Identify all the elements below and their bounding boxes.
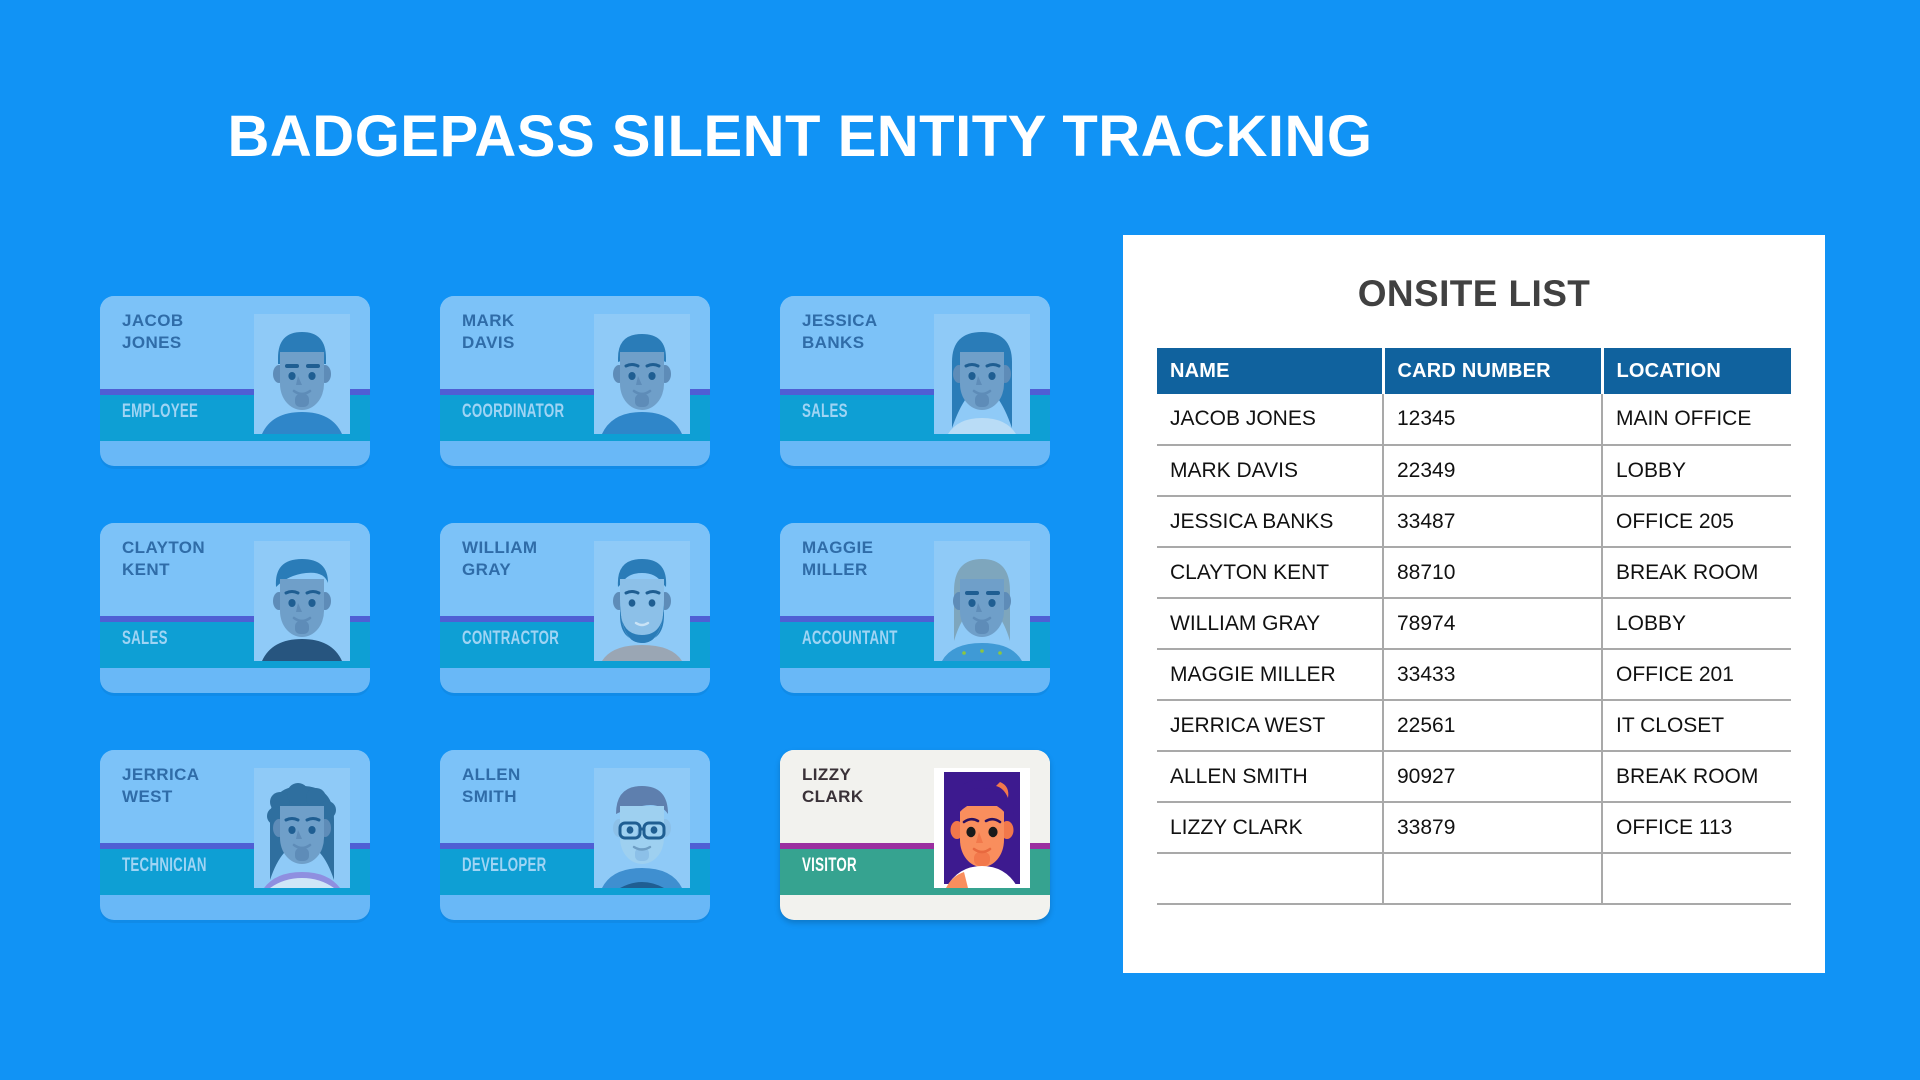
badge-card[interactable]: MAGGIEMILLERACCOUNTANT xyxy=(780,523,1050,693)
row-card-number: 90927 xyxy=(1383,751,1602,802)
table-row[interactable]: MARK DAVIS22349LOBBY xyxy=(1157,445,1791,496)
badge-name: WILLIAMGRAY xyxy=(462,537,592,581)
page-title: BADGEPASS SILENT ENTITY TRACKING xyxy=(0,108,1600,166)
onsite-list-title: ONSITE LIST xyxy=(1123,275,1825,312)
table-header-location[interactable]: LOCATION xyxy=(1602,348,1791,394)
badge-card[interactable]: CLAYTONKENTSALES xyxy=(100,523,370,693)
badge-role-label: COORDINATOR xyxy=(462,402,564,421)
row-card-number: 88710 xyxy=(1383,547,1602,598)
badge-name-line1: MARK xyxy=(462,310,592,332)
badge-card[interactable]: LIZZYCLARKVISITOR xyxy=(780,750,1050,920)
row-location: LOBBY xyxy=(1602,445,1791,496)
table-header-card-number[interactable]: CARD NUMBER xyxy=(1383,348,1602,394)
row-name: JACOB JONES xyxy=(1157,394,1383,445)
row-name: JERRICA WEST xyxy=(1157,700,1383,751)
table-row[interactable]: JACOB JONES12345MAIN OFFICE xyxy=(1157,394,1791,445)
table-header-name[interactable]: NAME xyxy=(1157,348,1383,394)
badge-role-label: SALES xyxy=(802,402,848,421)
table-row[interactable]: ALLEN SMITH90927BREAK ROOM xyxy=(1157,751,1791,802)
row-card-number: 33487 xyxy=(1383,496,1602,547)
row-card-number: 22561 xyxy=(1383,700,1602,751)
row-card-number: 12345 xyxy=(1383,394,1602,445)
row-location: BREAK ROOM xyxy=(1602,547,1791,598)
badge-name-line1: JACOB xyxy=(122,310,252,332)
row-location xyxy=(1602,853,1791,904)
row-name xyxy=(1157,853,1383,904)
row-location: IT CLOSET xyxy=(1602,700,1791,751)
row-name: LIZZY CLARK xyxy=(1157,802,1383,853)
badge-name: JESSICABANKS xyxy=(802,310,932,354)
badge-avatar-photo xyxy=(934,314,1030,434)
badge-name: JERRICAWEST xyxy=(122,764,252,808)
badge-card[interactable]: WILLIAMGRAYCONTRACTOR xyxy=(440,523,710,693)
badge-name-line2: WEST xyxy=(122,786,252,808)
badge-role-label: CONTRACTOR xyxy=(462,629,559,648)
table-row[interactable]: JERRICA WEST22561IT CLOSET xyxy=(1157,700,1791,751)
badge-role-label: SALES xyxy=(122,629,168,648)
badge-avatar-photo xyxy=(934,541,1030,661)
badge-name: LIZZYCLARK xyxy=(802,764,932,808)
badge-name: CLAYTONKENT xyxy=(122,537,252,581)
badge-name-line1: CLAYTON xyxy=(122,537,252,559)
row-name: ALLEN SMITH xyxy=(1157,751,1383,802)
badge-name-line2: KENT xyxy=(122,559,252,581)
badge-name-line2: JONES xyxy=(122,332,252,354)
row-location: BREAK ROOM xyxy=(1602,751,1791,802)
badge-name-line2: DAVIS xyxy=(462,332,592,354)
badge-role-label: TECHNICIAN xyxy=(122,856,207,875)
badge-avatar-photo xyxy=(594,314,690,434)
onsite-table: NAMECARD NUMBERLOCATION JACOB JONES12345… xyxy=(1157,348,1791,905)
badge-name-line2: SMITH xyxy=(462,786,592,808)
row-card-number: 78974 xyxy=(1383,598,1602,649)
table-row[interactable]: MAGGIE MILLER33433OFFICE 201 xyxy=(1157,649,1791,700)
badge-name: ALLENSMITH xyxy=(462,764,592,808)
badge-avatar-photo xyxy=(594,768,690,888)
table-header-row: NAMECARD NUMBERLOCATION xyxy=(1157,348,1791,394)
badge-avatar-photo xyxy=(254,768,350,888)
row-name: JESSICA BANKS xyxy=(1157,496,1383,547)
badge-card[interactable]: JERRICAWESTTECHNICIAN xyxy=(100,750,370,920)
table-row[interactable]: JESSICA BANKS33487OFFICE 205 xyxy=(1157,496,1791,547)
table-row[interactable]: CLAYTON KENT88710BREAK ROOM xyxy=(1157,547,1791,598)
badge-name-line1: WILLIAM xyxy=(462,537,592,559)
row-location: MAIN OFFICE xyxy=(1602,394,1791,445)
badge-name-line1: JERRICA xyxy=(122,764,252,786)
table-row[interactable] xyxy=(1157,853,1791,904)
badge-role-label: DEVELOPER xyxy=(462,856,547,875)
onsite-table-body: JACOB JONES12345MAIN OFFICEMARK DAVIS223… xyxy=(1157,394,1791,904)
row-card-number: 33879 xyxy=(1383,802,1602,853)
badge-avatar-photo xyxy=(254,541,350,661)
row-name: CLAYTON KENT xyxy=(1157,547,1383,598)
row-card-number: 33433 xyxy=(1383,649,1602,700)
badge-card[interactable]: MARKDAVISCOORDINATOR xyxy=(440,296,710,466)
badge-name: MARKDAVIS xyxy=(462,310,592,354)
badge-avatar-photo xyxy=(594,541,690,661)
row-name: MAGGIE MILLER xyxy=(1157,649,1383,700)
badge-name-line1: ALLEN xyxy=(462,764,592,786)
badge-avatar-photo xyxy=(254,314,350,434)
row-name: MARK DAVIS xyxy=(1157,445,1383,496)
badge-card[interactable]: JESSICABANKSSALES xyxy=(780,296,1050,466)
slide-canvas: BADGEPASS SILENT ENTITY TRACKING JACOBJO… xyxy=(0,0,1920,1080)
badge-role-label: EMPLOYEE xyxy=(122,402,198,421)
badge-name-line2: GRAY xyxy=(462,559,592,581)
badge-name-line2: MILLER xyxy=(802,559,932,581)
badge-name: MAGGIEMILLER xyxy=(802,537,932,581)
row-location: OFFICE 113 xyxy=(1602,802,1791,853)
badge-name-line1: MAGGIE xyxy=(802,537,932,559)
onsite-table-head: NAMECARD NUMBERLOCATION xyxy=(1157,348,1791,394)
table-row[interactable]: LIZZY CLARK33879OFFICE 113 xyxy=(1157,802,1791,853)
row-location: LOBBY xyxy=(1602,598,1791,649)
row-card-number: 22349 xyxy=(1383,445,1602,496)
onsite-list-panel: ONSITE LIST NAMECARD NUMBERLOCATION JACO… xyxy=(1123,235,1825,973)
badge-name: JACOBJONES xyxy=(122,310,252,354)
row-location: OFFICE 205 xyxy=(1602,496,1791,547)
badge-role-label: VISITOR xyxy=(802,856,857,875)
badge-name-line2: BANKS xyxy=(802,332,932,354)
badge-card[interactable]: JACOBJONESEMPLOYEE xyxy=(100,296,370,466)
badge-name-line2: CLARK xyxy=(802,786,932,808)
row-card-number xyxy=(1383,853,1602,904)
badge-avatar-photo xyxy=(934,768,1030,888)
badge-role-label: ACCOUNTANT xyxy=(802,629,898,648)
table-row[interactable]: WILLIAM GRAY78974LOBBY xyxy=(1157,598,1791,649)
badge-name-line1: LIZZY xyxy=(802,764,932,786)
badge-card[interactable]: ALLENSMITHDEVELOPER xyxy=(440,750,710,920)
badge-name-line1: JESSICA xyxy=(802,310,932,332)
row-location: OFFICE 201 xyxy=(1602,649,1791,700)
row-name: WILLIAM GRAY xyxy=(1157,598,1383,649)
badge-grid: JACOBJONESEMPLOYEE MARKDAVISCOORDINATOR xyxy=(100,296,1100,920)
